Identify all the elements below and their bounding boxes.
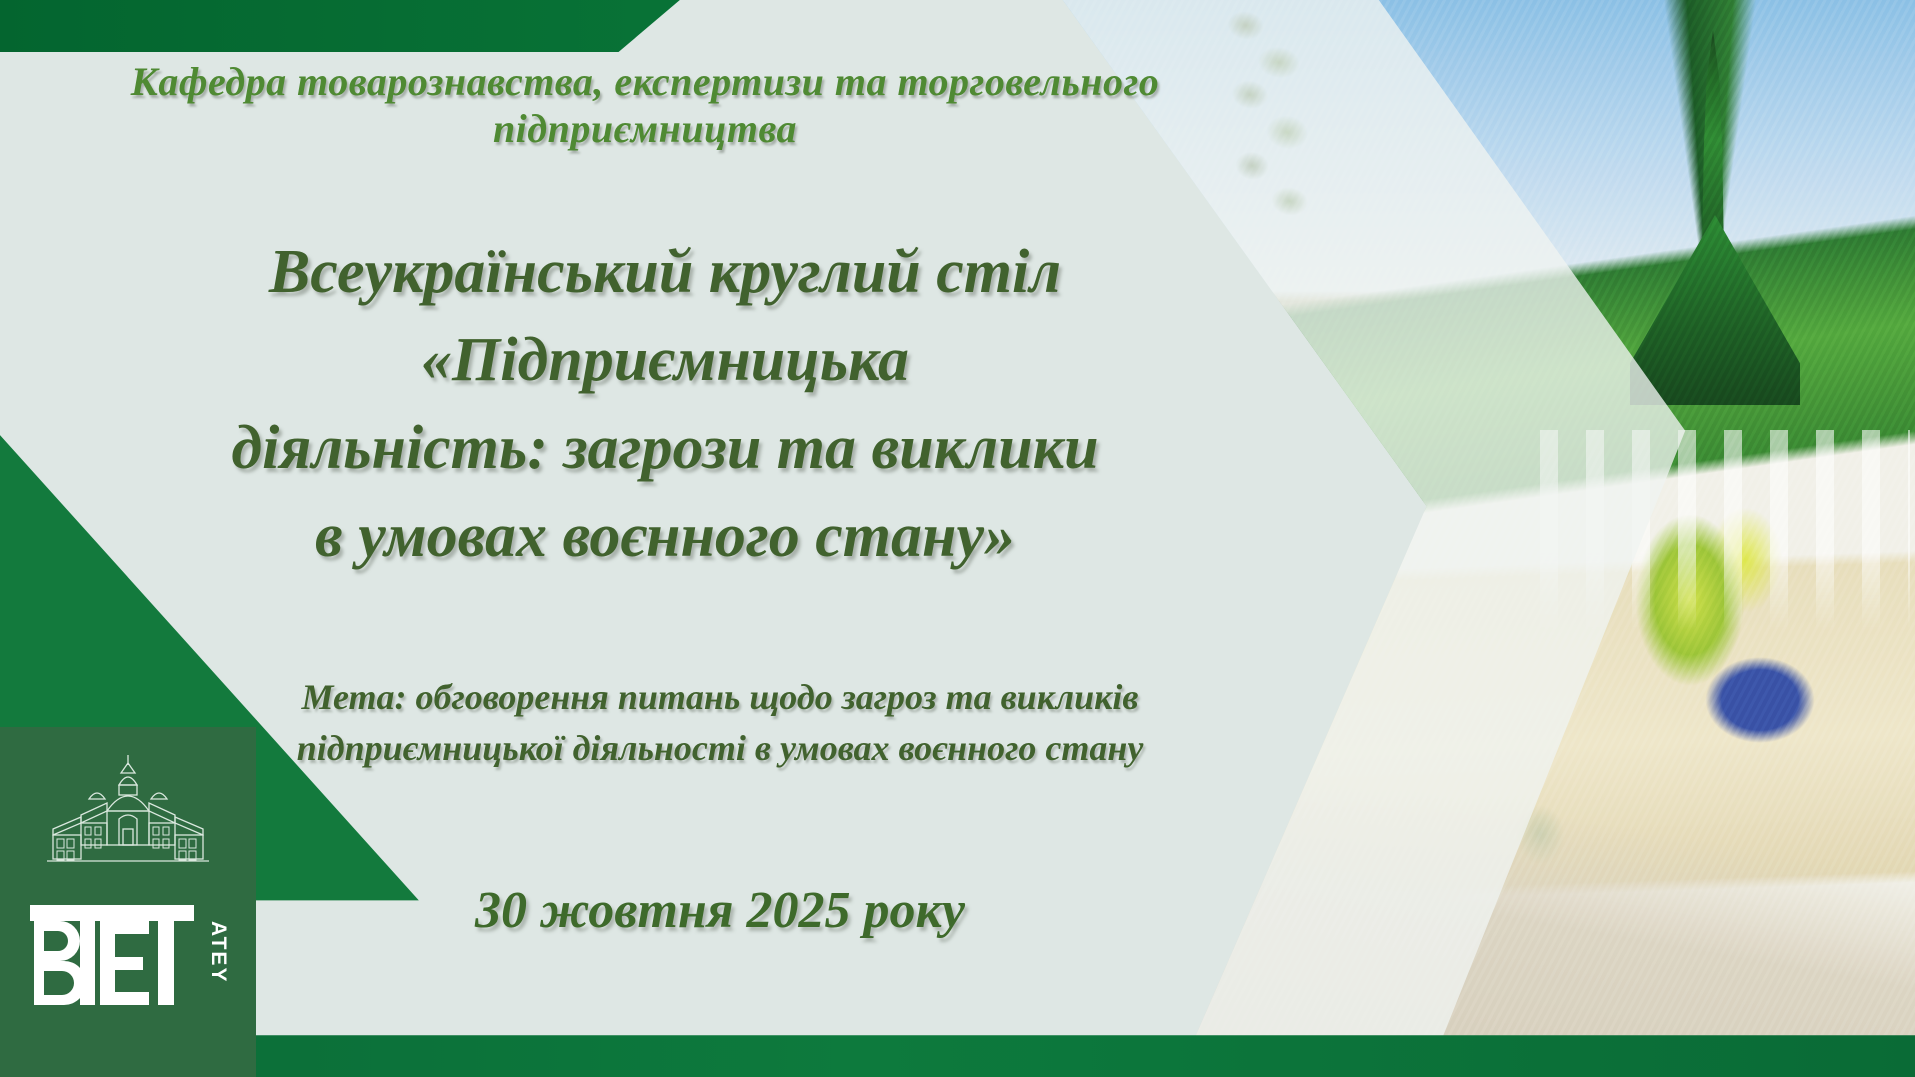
- purpose-line-1: Мета: обговорення питань щодо загроз та …: [210, 672, 1230, 723]
- headline-line-3: діяльність: загрози та виклики: [120, 404, 1210, 492]
- headline-line-4: в умовах воєнного стану»: [120, 492, 1210, 580]
- purpose-line-2: підприємницької діяльності в умовах воєн…: [210, 723, 1230, 774]
- event-banner: ATEY Кафедра товарознавства, експертизи …: [0, 0, 1915, 1077]
- event-date: 30 жовтня 2025 року: [210, 880, 1230, 942]
- department-title: Кафедра товарознавства, експертизи та то…: [0, 58, 1290, 152]
- headline-line-2: «Підприємницька: [120, 316, 1210, 404]
- headline-line-1: Всеукраїнський круглий стіл: [120, 228, 1210, 316]
- event-purpose: Мета: обговорення питань щодо загроз та …: [210, 672, 1230, 774]
- event-headline: Всеукраїнський круглий стіл «Підприємниц…: [120, 228, 1210, 580]
- banner-text-layer: Кафедра товарознавства, експертизи та то…: [0, 0, 1915, 1077]
